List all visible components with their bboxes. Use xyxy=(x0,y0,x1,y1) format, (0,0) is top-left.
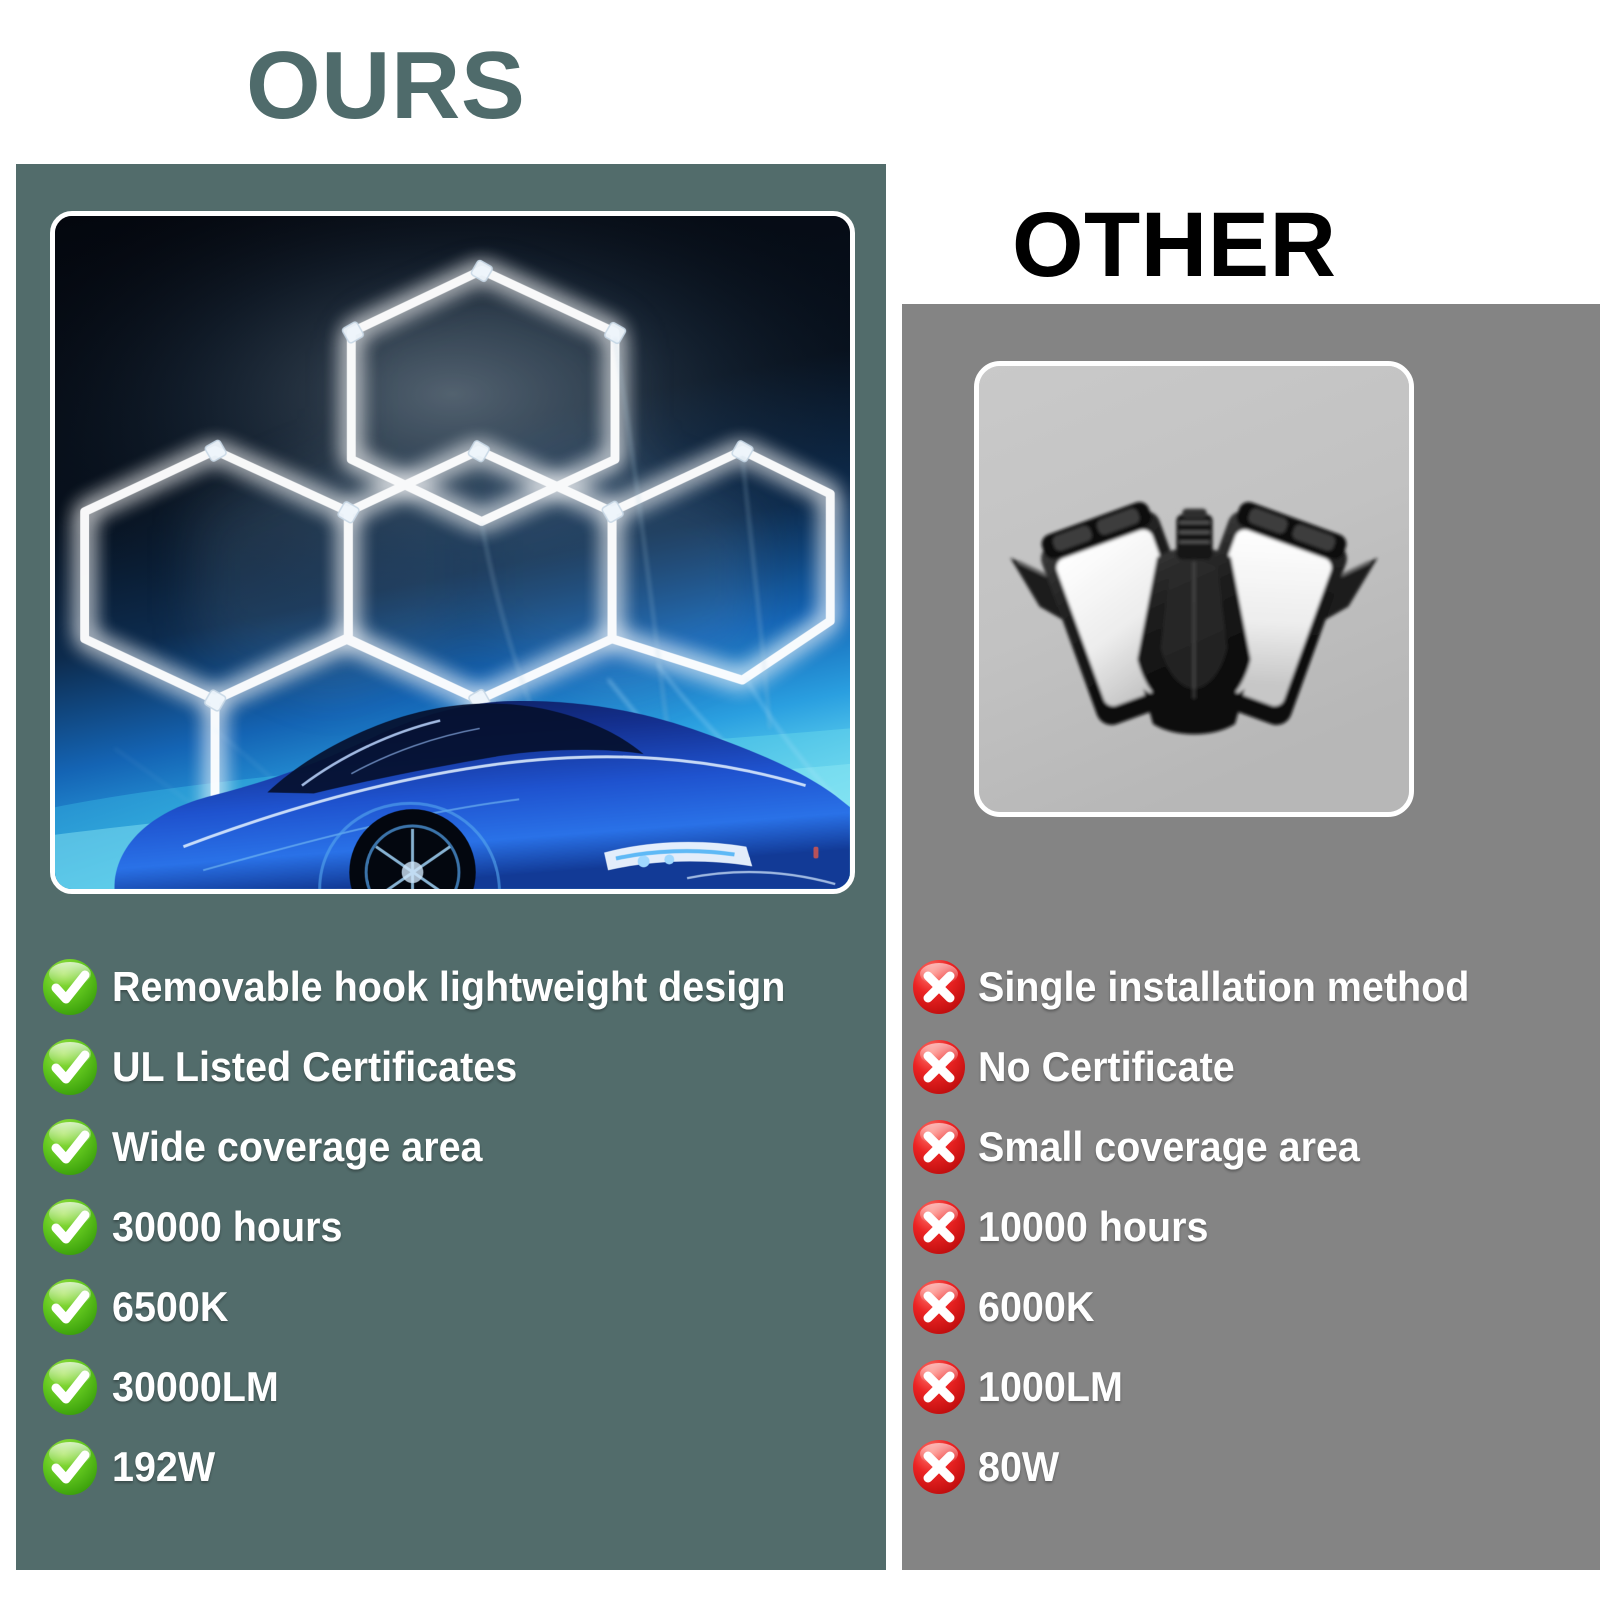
other-feature-list: Single installation method No Certificat… xyxy=(902,947,1600,1507)
ours-product-image-card xyxy=(50,211,855,894)
list-item: UL Listed Certificates xyxy=(42,1027,876,1107)
list-item-label: UL Listed Certificates xyxy=(112,1046,517,1088)
green-check-badge-icon xyxy=(42,1358,98,1416)
other-title: OTHER xyxy=(1012,199,1337,291)
list-item: 10000 hours xyxy=(912,1187,1590,1267)
list-item-label: 30000 hours xyxy=(112,1206,342,1248)
red-cross-badge-icon xyxy=(912,1199,966,1255)
ours-title: OURS xyxy=(246,38,525,134)
list-item-label: 80W xyxy=(978,1446,1059,1488)
red-cross-badge-icon xyxy=(912,1359,966,1415)
list-item-label: 10000 hours xyxy=(978,1206,1208,1248)
list-item-label: Single installation method xyxy=(978,966,1469,1008)
list-item: 30000 hours xyxy=(42,1187,876,1267)
red-cross-badge-icon xyxy=(912,1039,966,1095)
list-item-label: Small coverage area xyxy=(978,1126,1360,1168)
other-panel: Single installation method No Certificat… xyxy=(902,304,1600,1570)
green-check-badge-icon xyxy=(42,1198,98,1256)
list-item: 1000LM xyxy=(912,1347,1590,1427)
list-item-label: 30000LM xyxy=(112,1366,279,1408)
ours-panel: Removable hook lightweight design UL Lis… xyxy=(16,164,886,1570)
green-check-badge-icon xyxy=(42,1118,98,1176)
list-item-label: 6500K xyxy=(112,1286,228,1328)
list-item-label: 1000LM xyxy=(978,1366,1123,1408)
list-item-label: 6000K xyxy=(978,1286,1094,1328)
list-item: Single installation method xyxy=(912,947,1590,1027)
green-check-badge-icon xyxy=(42,958,98,1016)
green-check-badge-icon xyxy=(42,1278,98,1336)
list-item: 6500K xyxy=(42,1267,876,1347)
red-cross-badge-icon xyxy=(912,959,966,1015)
list-item-label: 192W xyxy=(112,1446,215,1488)
black-deformable-garage-ceiling-light-icon xyxy=(979,366,1409,812)
red-cross-badge-icon xyxy=(912,1279,966,1335)
list-item: Wide coverage area xyxy=(42,1107,876,1187)
list-item-label: Wide coverage area xyxy=(112,1126,483,1168)
ours-feature-list: Removable hook lightweight design UL Lis… xyxy=(16,947,886,1507)
other-product-image-card xyxy=(974,361,1414,817)
list-item-label: No Certificate xyxy=(978,1046,1235,1088)
list-item: 30000LM xyxy=(42,1347,876,1427)
red-cross-badge-icon xyxy=(912,1119,966,1175)
list-item: No Certificate xyxy=(912,1027,1590,1107)
list-item: Removable hook lightweight design xyxy=(42,947,876,1027)
list-item: 80W xyxy=(912,1427,1590,1507)
red-cross-badge-icon xyxy=(912,1439,966,1495)
hexagon-led-garage-light-over-blue-sports-car-icon xyxy=(55,216,850,889)
list-item: Small coverage area xyxy=(912,1107,1590,1187)
green-check-badge-icon xyxy=(42,1438,98,1496)
list-item: 6000K xyxy=(912,1267,1590,1347)
green-check-badge-icon xyxy=(42,1038,98,1096)
list-item: 192W xyxy=(42,1427,876,1507)
list-item-label: Removable hook lightweight design xyxy=(112,966,785,1008)
